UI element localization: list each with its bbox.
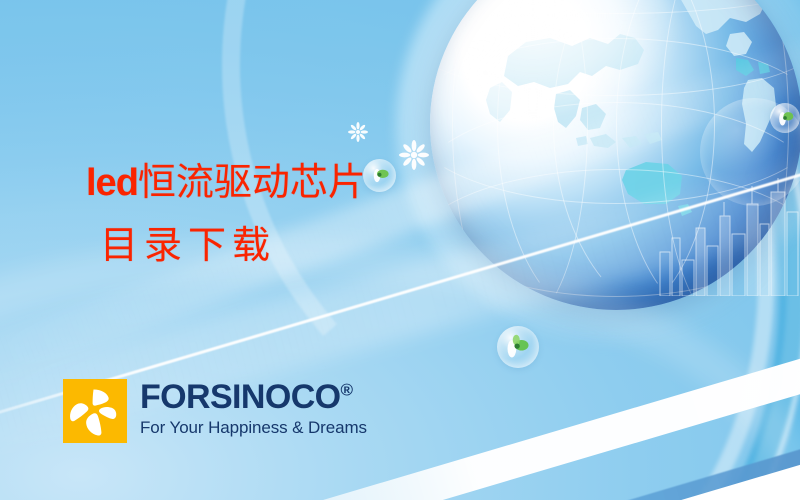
registered-trademark-symbol: ® [341, 381, 354, 400]
bubble-with-pinwheel [363, 159, 396, 192]
headline-latin: led [86, 162, 138, 204]
green-pinwheel-icon [363, 159, 396, 192]
logo-wordmark: FORSINOCO® [140, 380, 367, 414]
logo-text-block: FORSINOCO® For Your Happiness & Dreams [140, 380, 367, 437]
company-logo[interactable]: FORSINOCO® For Your Happiness & Dreams [63, 379, 367, 443]
logo-wordmark-text: FORSINOCO [140, 378, 341, 416]
green-pinwheel-icon [770, 103, 800, 133]
headline-line-1: led恒流驱动芯片 [86, 163, 366, 202]
headline-line-2: 目录下载 [100, 226, 366, 264]
logo-tagline: For Your Happiness & Dreams [140, 418, 367, 437]
forsinoco-petal-mark-icon [63, 379, 127, 443]
promo-banner: led恒流驱动芯片 目录下载 FORSINOCO® For Your Happi… [0, 0, 800, 500]
headline-cjk: 恒流驱动芯片 [138, 160, 366, 204]
headline: led恒流驱动芯片 目录下载 [86, 163, 366, 264]
bubble-edge [770, 103, 800, 133]
